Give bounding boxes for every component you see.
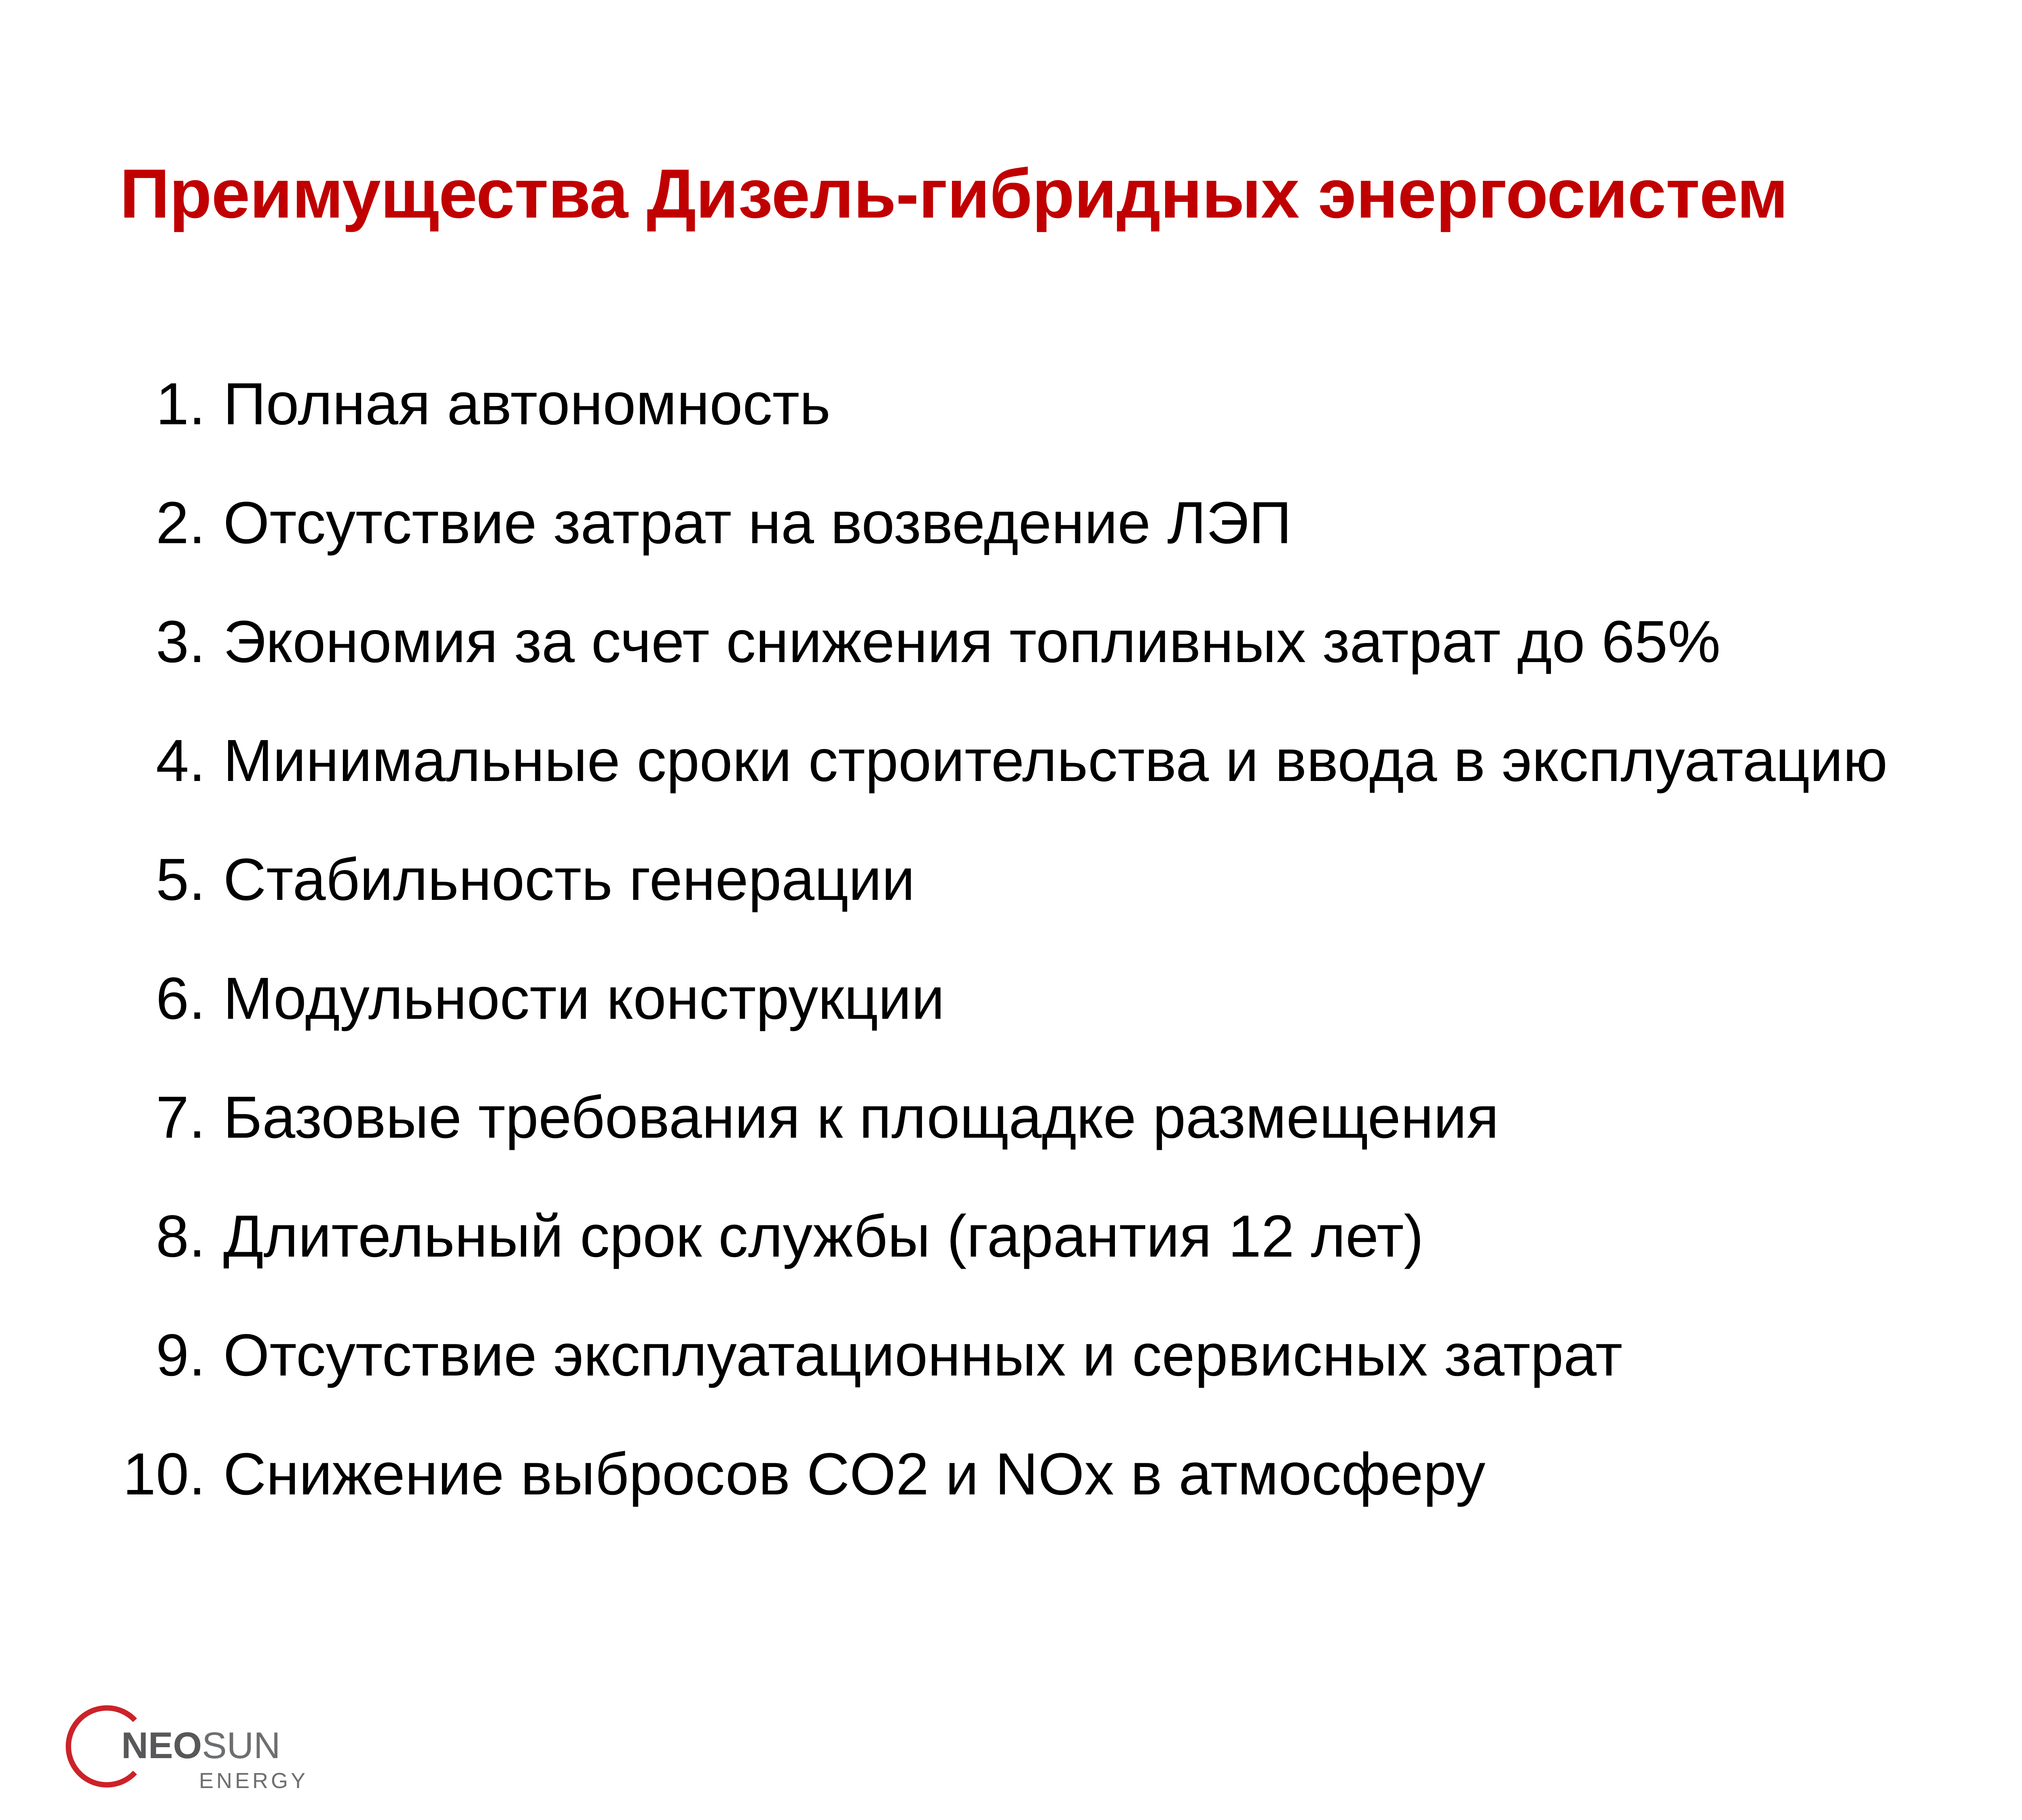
list-item-label: Полная автономность xyxy=(223,375,831,434)
list-item: 8. Длительный срок службы (гарантия 12 л… xyxy=(120,1188,2022,1307)
list-item: 5. Стабильность генерации xyxy=(120,832,2022,950)
list-item-number: 1. xyxy=(120,375,205,434)
list-item: 4. Минимальные сроки строительства и вво… xyxy=(120,713,2022,832)
neosun-energy-logo: NEOSUN ENERGY xyxy=(57,1697,307,1798)
list-item-number: 7. xyxy=(120,1088,205,1147)
list-item-label: Базовые требования к площадке размещения xyxy=(223,1088,1499,1147)
list-item: 1. Полная автономность xyxy=(120,356,2022,475)
list-item: 9. Отсутствие эксплуатационных и сервисн… xyxy=(120,1307,2022,1426)
list-item-label: Отсутствие эксплуатационных и сервисных … xyxy=(223,1326,1622,1385)
list-item: 10. Снижение выбросов CO2 и NOx в атмосф… xyxy=(120,1426,2022,1545)
list-item-label: Модульности конструкции xyxy=(223,969,945,1029)
list-item-label: Снижение выбросов CO2 и NOx в атмосферу xyxy=(223,1445,1485,1504)
list-item-number: 9. xyxy=(120,1326,205,1385)
list-item-number: 3. xyxy=(120,612,205,672)
slide-canvas: Преимущества Дизель-гибридных энергосист… xyxy=(0,0,2022,1820)
list-item-number: 6. xyxy=(120,969,205,1029)
list-item-label: Минимальные сроки строительства и ввода … xyxy=(223,731,1888,791)
page-title: Преимущества Дизель-гибридных энергосист… xyxy=(120,154,2022,235)
list-item-number: 5. xyxy=(120,850,205,910)
list-item-number: 4. xyxy=(120,731,205,791)
list-item: 2. Отсутствие затрат на возведение ЛЭП xyxy=(120,475,2022,594)
logo-neo-text: NEO xyxy=(121,1725,202,1766)
list-item-label: Стабильность генерации xyxy=(223,850,915,910)
list-item-number: 2. xyxy=(120,493,205,553)
logo-wordmark: NEOSUN xyxy=(121,1727,281,1764)
list-item: 7. Базовые требования к площадке размеще… xyxy=(120,1069,2022,1188)
list-item-label: Экономия за счет снижения топливных затр… xyxy=(223,612,1721,672)
list-item: 3. Экономия за счет снижения топливных з… xyxy=(120,594,2022,713)
list-item-number: 10. xyxy=(120,1445,205,1504)
logo-sun-text: SUN xyxy=(202,1725,280,1766)
list-item-label: Длительный срок службы (гарантия 12 лет) xyxy=(223,1207,1423,1266)
advantages-numbered-list: 1. Полная автономность 2. Отсутствие зат… xyxy=(120,356,2022,1545)
logo-tagline: ENERGY xyxy=(199,1770,308,1792)
list-item-number: 8. xyxy=(120,1207,205,1266)
list-item-label: Отсутствие затрат на возведение ЛЭП xyxy=(223,493,1292,553)
list-item: 6. Модульности конструкции xyxy=(120,950,2022,1069)
